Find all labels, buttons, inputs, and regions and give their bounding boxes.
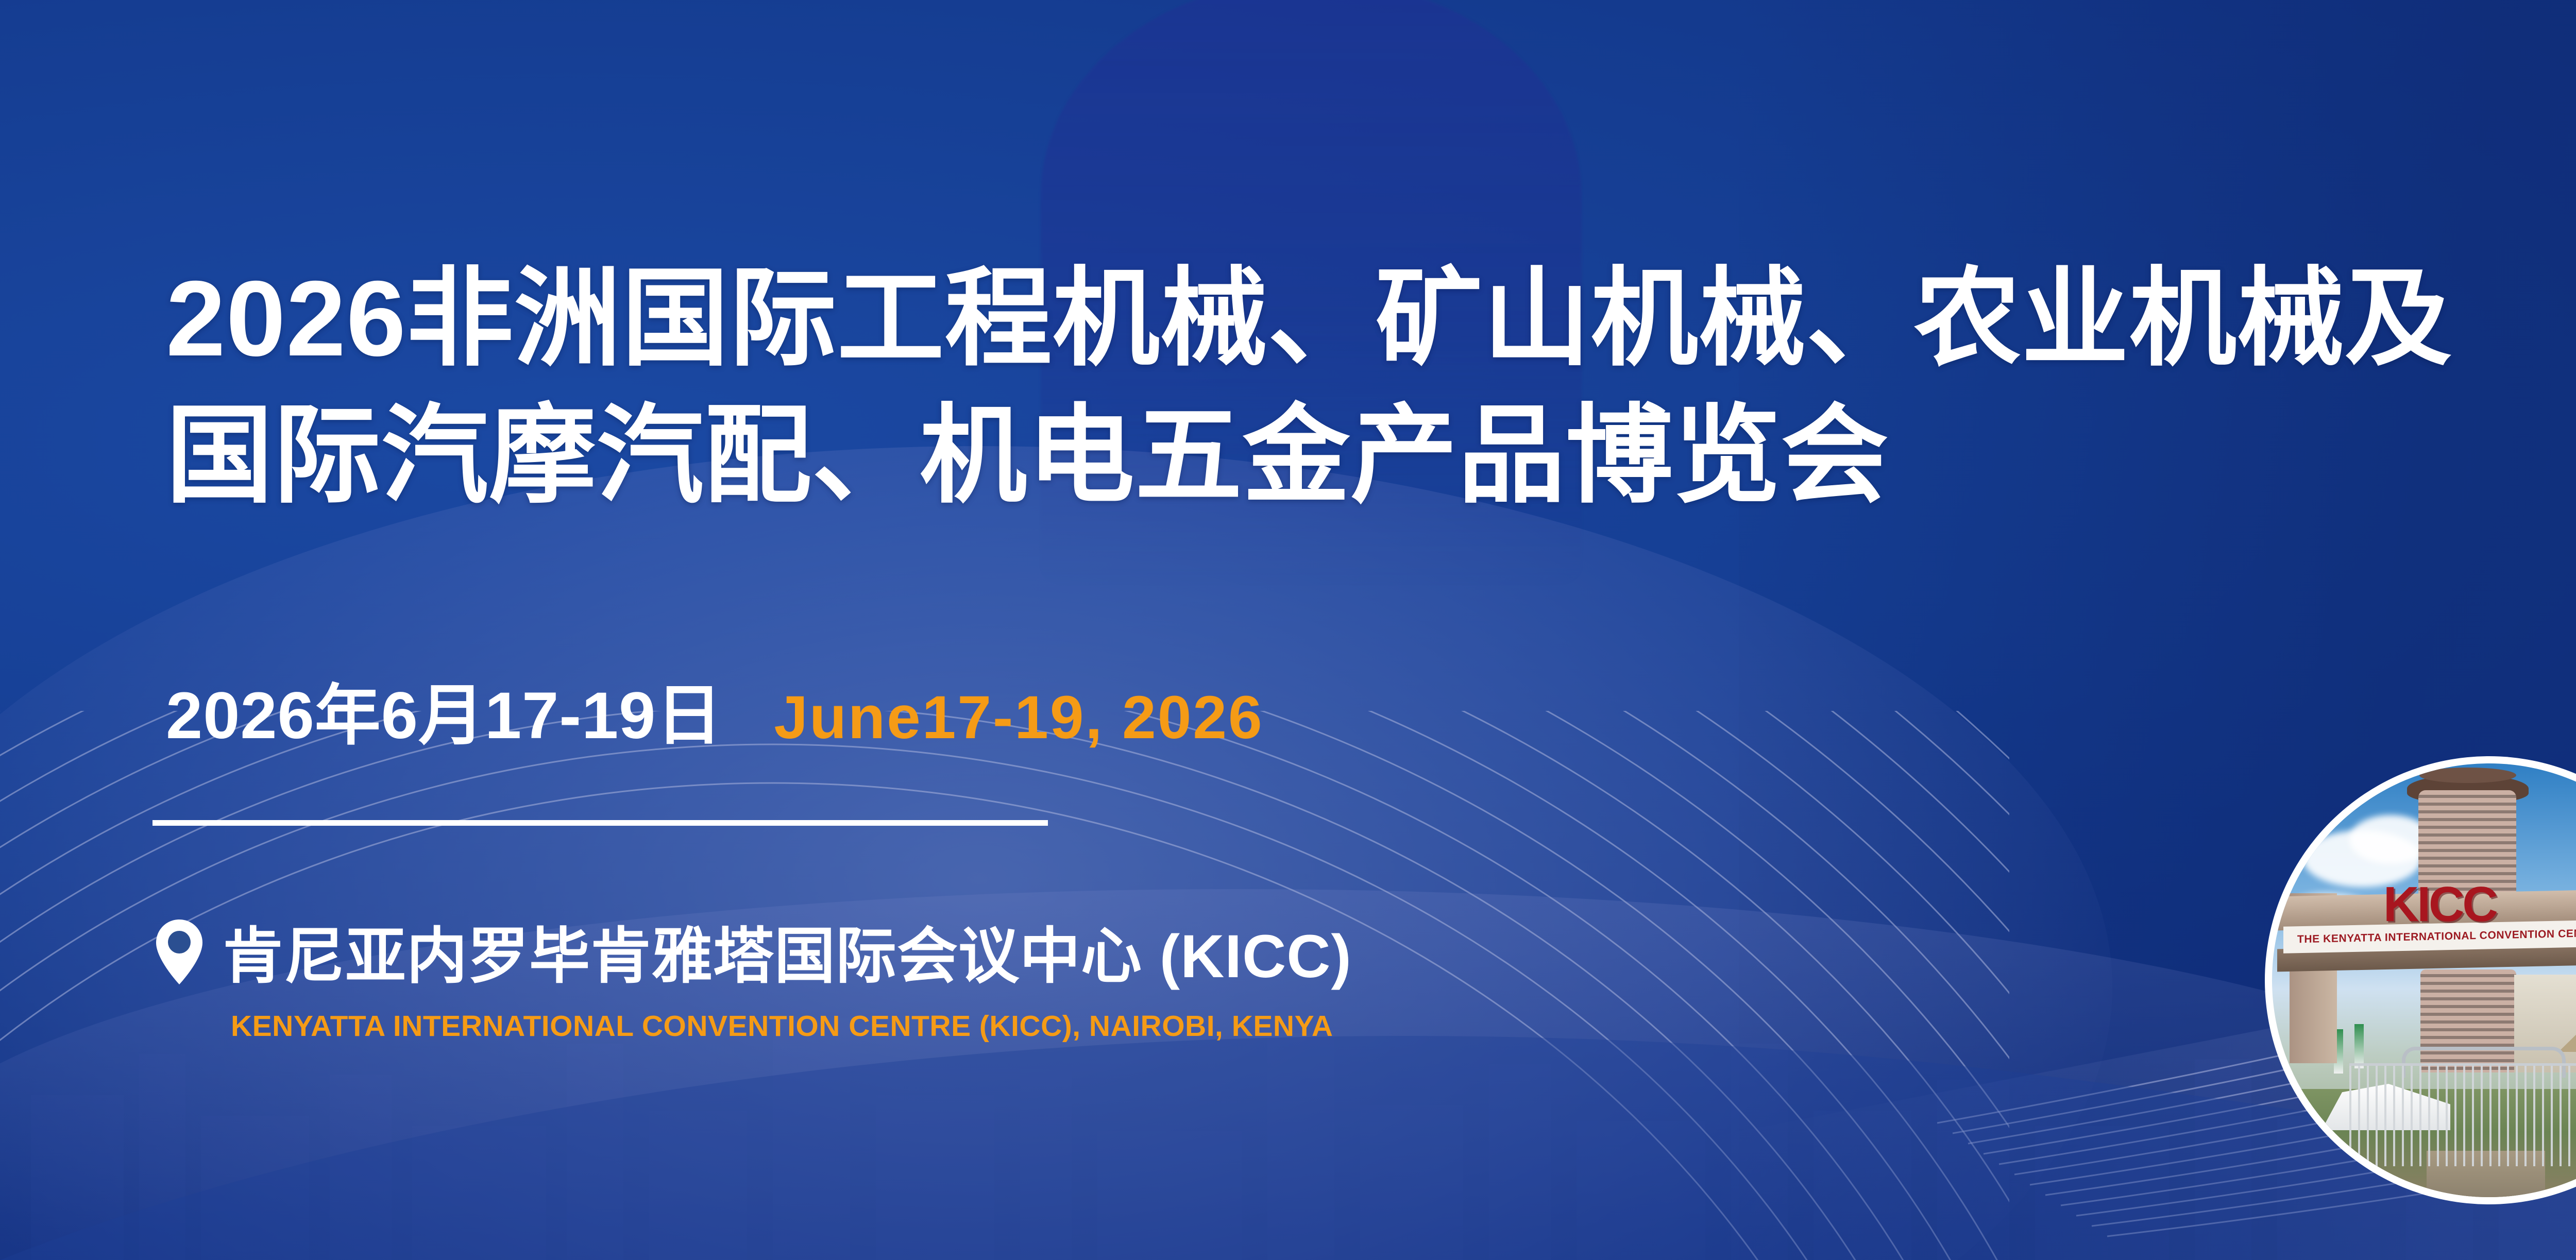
venue-english: KENYATTA INTERNATIONAL CONVENTION CENTRE… — [231, 1009, 1352, 1043]
event-banner: 智造非洲 共建未来 SMART MANUFACTURING, SHARED FU… — [0, 0, 2576, 1260]
title-line-2: 国际汽摩汽配、机电五金产品博览会 — [166, 387, 2576, 524]
venue-chinese: 肯尼亚内罗毕肯雅塔国际会议中心 (KICC) — [223, 907, 1352, 995]
event-title: 2026非洲国际工程机械、矿山机械、农业机械及 国际汽摩汽配、机电五金产品博览会 — [166, 250, 2576, 524]
location-pin-icon — [155, 918, 204, 985]
event-date: 2026年6月17-19日 June17-19, 2026 — [166, 662, 1264, 757]
date-chinese: 2026年6月17-19日 — [166, 662, 722, 757]
decorative-curves — [0, 0, 2576, 1260]
event-venue: 肯尼亚内罗毕肯雅塔国际会议中心 (KICC) KENYATTA INTERNAT… — [155, 907, 1352, 1043]
kicc-logo-text: KICC — [2383, 880, 2496, 929]
date-english: June17-19, 2026 — [774, 683, 1263, 753]
section-divider — [152, 820, 1048, 826]
title-line-1: 2026非洲国际工程机械、矿山机械、农业机械及 — [166, 250, 2576, 387]
dove-birds-icon — [2568, 1120, 2576, 1234]
